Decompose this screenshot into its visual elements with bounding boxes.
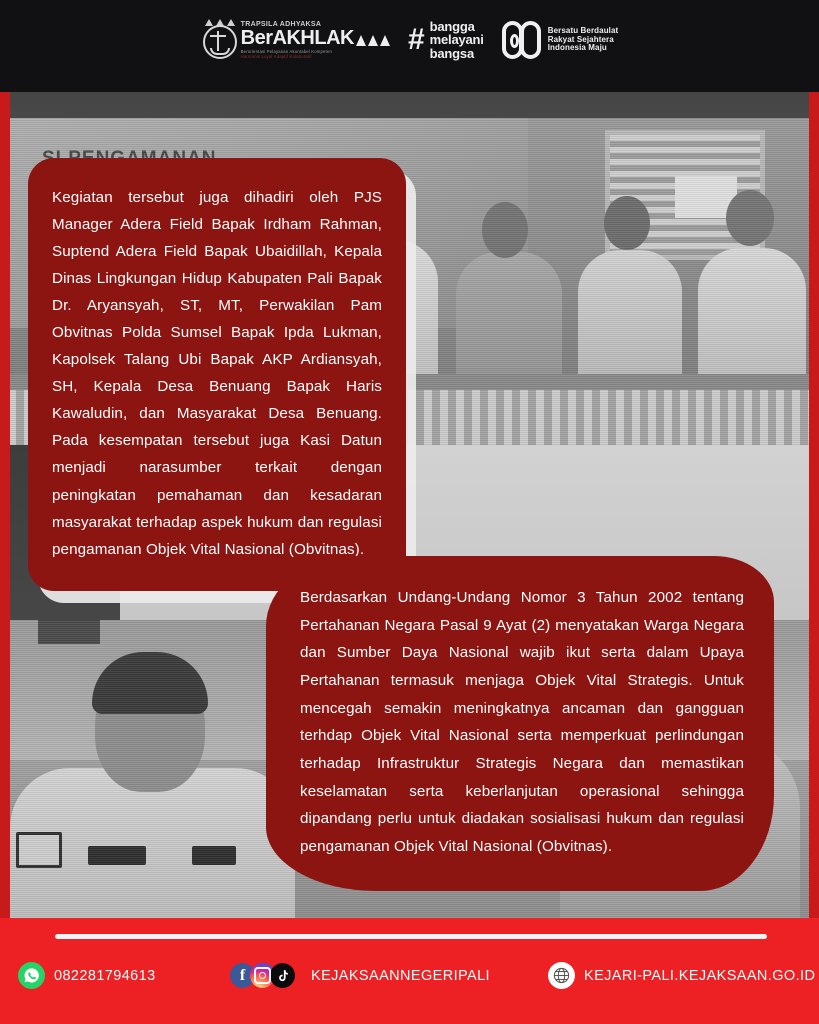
border-left <box>0 0 10 918</box>
bubble-attendees: Kegiatan tersebut juga dihadiri oleh PJS… <box>28 158 406 591</box>
whatsapp-icon[interactable] <box>18 962 45 989</box>
hut-number-80-icon <box>502 21 541 59</box>
border-right <box>809 0 819 918</box>
hut-ri-80-logo: Bersatu Berdaulat Rakyat Sejahtera Indon… <box>502 21 619 59</box>
header-bar: TRAPSILA ADHYAKSA BerAKHLAK Berorientasi… <box>0 0 819 92</box>
bmb-line-2: melayani <box>430 33 484 46</box>
footer-contacts: 082281794613 f KEJAKSAANNEGERIPALI KEJAR… <box>0 958 819 1002</box>
footer-divider <box>55 934 767 939</box>
whatsapp-number: 082281794613 <box>54 968 156 984</box>
hashtag-icon: # <box>408 25 425 55</box>
footer-social[interactable]: f KEJAKSAANNEGERIPALI <box>230 963 490 988</box>
bubble-regulation: Berdasarkan Undang-Undang Nomor 3 Tahun … <box>266 556 774 891</box>
footer-bar: 082281794613 f KEJAKSAANNEGERIPALI KEJAR… <box>0 918 819 1024</box>
social-handle: KEJAKSAANNEGERIPALI <box>311 968 490 984</box>
kejaksaan-seal-icon <box>201 21 235 59</box>
berakhlak-subtitle-2: Harmonis Loyal Adaptif Kolaboratif <box>241 55 390 59</box>
bmb-line-1: bangga <box>430 20 484 33</box>
bangga-melayani-bangsa-logo: # bangga melayani bangsa <box>408 20 484 60</box>
globe-icon[interactable] <box>548 962 575 989</box>
berakhlak-word: BerAKHLAK <box>241 28 354 48</box>
person-5-head <box>604 196 650 250</box>
logo-group: TRAPSILA ADHYAKSA BerAKHLAK Berorientasi… <box>201 20 619 60</box>
bmb-text: bangga melayani bangsa <box>430 20 484 60</box>
uniform-badge <box>192 846 236 865</box>
berakhlak-text: TRAPSILA ADHYAKSA BerAKHLAK Berorientasi… <box>241 21 390 58</box>
hut-line-3: Indonesia Maju <box>548 44 619 53</box>
poster: SI PENGAMANAN <box>0 0 819 1024</box>
tiktok-icon[interactable] <box>270 963 295 988</box>
berakhlak-logo: TRAPSILA ADHYAKSA BerAKHLAK Berorientasi… <box>201 21 390 59</box>
berakhlak-triangles-icon <box>356 35 390 48</box>
footer-whatsapp[interactable]: 082281794613 <box>18 962 156 989</box>
website-url: KEJARI-PALI.KEJAKSAAN.GO.ID <box>584 968 815 984</box>
social-icons[interactable]: f <box>230 963 290 988</box>
person-4-head <box>482 202 528 258</box>
bmb-line-3: bangsa <box>430 47 484 60</box>
bubble-attendees-text: Kegiatan tersebut juga dihadiri oleh PJS… <box>52 184 382 563</box>
uniform-flag-patch <box>16 832 62 868</box>
bubble-regulation-text: Berdasarkan Undang-Undang Nomor 3 Tahun … <box>300 584 744 861</box>
person-6-head <box>726 190 774 246</box>
footer-website[interactable]: KEJARI-PALI.KEJAKSAAN.GO.ID <box>548 962 815 989</box>
wall-frame <box>38 620 100 644</box>
hut-text: Bersatu Berdaulat Rakyat Sejahtera Indon… <box>548 27 619 53</box>
uniform-nametag <box>88 846 146 865</box>
